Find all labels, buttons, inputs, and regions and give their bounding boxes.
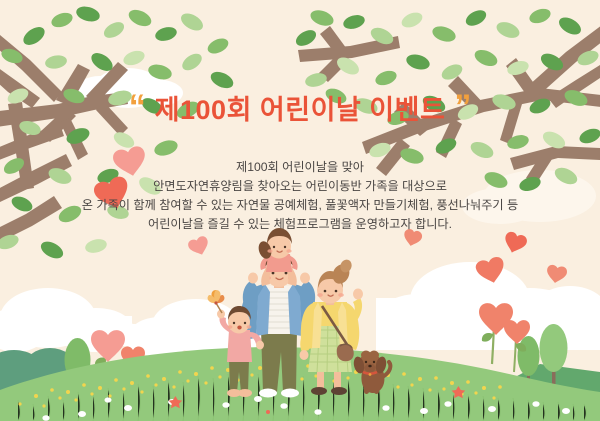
event-poster: “제100회 어린이날 이벤트” 제100회 어린이날을 맞아 안면도자연휴양림… [0,0,600,421]
pinwheel-icon [208,290,225,313]
ground-scene-layer [0,0,600,421]
